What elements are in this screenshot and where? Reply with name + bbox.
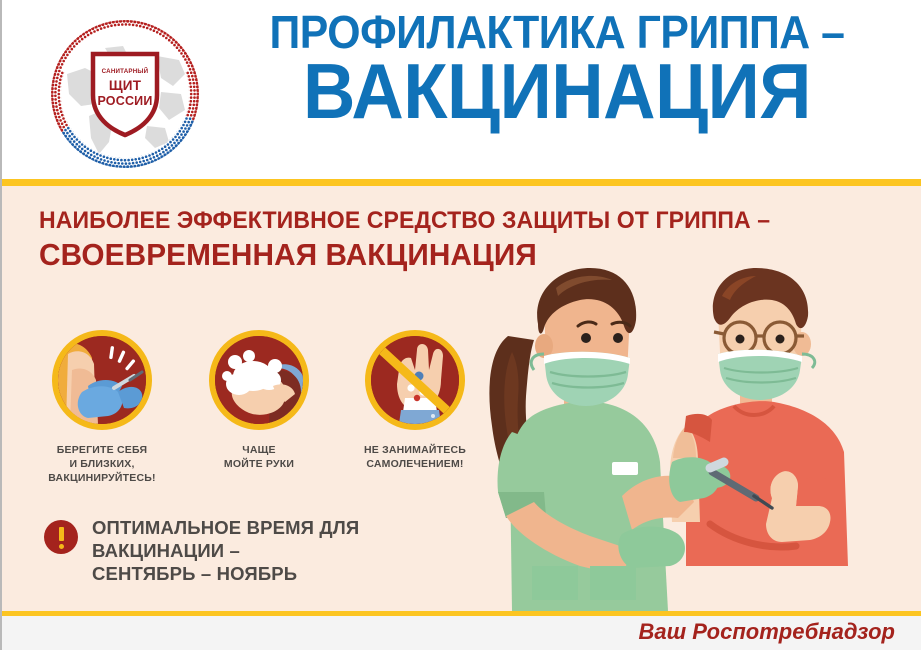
emblem-text-line1: САНИТАРНЫЙ (88, 68, 162, 75)
badge-hand-washing (209, 330, 309, 430)
sanitary-shield-russia-emblem: САНИТАРНЫЙ ЩИТ РОССИИ (50, 19, 200, 169)
exclamation-mark-icon (44, 520, 78, 554)
page-title-line2: ВАКЦИНАЦИЯ (232, 54, 883, 129)
caption-line2: И БЛИЗКИХ, (17, 458, 187, 472)
page-title: ПРОФИЛАКТИКА ГРИППА – ВАКЦИНАЦИЯ (207, 10, 907, 129)
emblem-text-line2: ЩИТ (88, 78, 162, 93)
caption-line3: ВАКЦИНИРУЙТЕСЬ! (17, 472, 187, 486)
nurse-vaccinating-patient-illustration (472, 266, 921, 611)
caption-line2: САМОЛЕЧЕНИЕМ! (330, 458, 500, 472)
caption-line1: БЕРЕГИТЕ СЕБЯ (17, 444, 187, 458)
no-self-medication-icon (371, 336, 459, 424)
caption-line1: ЧАЩЕ (174, 444, 344, 458)
emblem-shield-icon: САНИТАРНЫЙ ЩИТ РОССИИ (88, 49, 162, 139)
badge-no-self-medication-caption: НЕ ЗАНИМАЙТЕСЬ САМОЛЕЧЕНИЕМ! (330, 444, 500, 472)
header-divider (2, 179, 921, 186)
hand-washing-icon (215, 336, 303, 424)
callout-line2: СЕНТЯБРЬ – НОЯБРЬ (92, 562, 462, 585)
flu-vaccination-poster: САНИТАРНЫЙ ЩИТ РОССИИ ПРОФИЛАКТИКА ГРИПП… (0, 0, 921, 650)
vaccination-injection-icon (58, 336, 146, 424)
patient-figure (670, 268, 848, 566)
poster-header: САНИТАРНЫЙ ЩИТ РОССИИ ПРОФИЛАКТИКА ГРИПП… (2, 0, 921, 179)
badge-vaccination-caption: БЕРЕГИТЕ СЕБЯ И БЛИЗКИХ, ВАКЦИНИРУЙТЕСЬ! (17, 444, 187, 486)
subtitle-line1: НАИБОЛЕЕ ЭФФЕКТИВНОЕ СРЕДСТВО ЗАЩИТЫ ОТ … (39, 208, 865, 235)
badge-no-self-medication (365, 330, 465, 430)
subtitle: НАИБОЛЕЕ ЭФФЕКТИВНОЕ СРЕДСТВО ЗАЩИТЫ ОТ … (39, 208, 899, 273)
caption-line2: МОЙТЕ РУКИ (174, 458, 344, 472)
callout-optimal-time: ОПТИМАЛЬНОЕ ВРЕМЯ ДЛЯ ВАКЦИНАЦИИ – СЕНТЯ… (44, 516, 464, 572)
badge-hand-washing-caption: ЧАЩЕ МОЙТЕ РУКИ (174, 444, 344, 472)
emblem-text-line3: РОССИИ (88, 94, 162, 108)
poster-body: НАИБОЛЕЕ ЭФФЕКТИВНОЕ СРЕДСТВО ЗАЩИТЫ ОТ … (2, 186, 921, 611)
callout-line1: ОПТИМАЛЬНОЕ ВРЕМЯ ДЛЯ ВАКЦИНАЦИИ – (92, 516, 462, 562)
caption-line1: НЕ ЗАНИМАЙТЕСЬ (330, 444, 500, 458)
callout-text: ОПТИМАЛЬНОЕ ВРЕМЯ ДЛЯ ВАКЦИНАЦИИ – СЕНТЯ… (92, 516, 462, 585)
organization-signature: Ваш Роспотребнадзор (638, 619, 895, 645)
badge-vaccination (52, 330, 152, 430)
poster-footer: Ваш Роспотребнадзор (2, 616, 921, 650)
